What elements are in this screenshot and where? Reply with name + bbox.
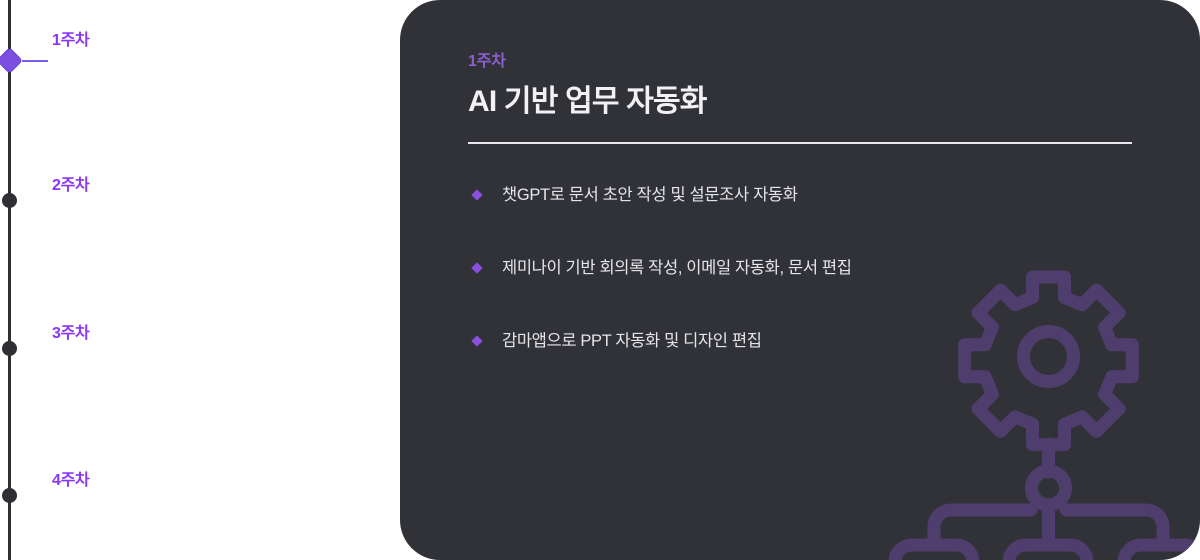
timeline-connector-line: [22, 60, 48, 62]
diamond-marker-icon: [0, 48, 22, 72]
timeline-label-week-2: 2주차: [52, 171, 89, 195]
card-divider: [468, 142, 1132, 144]
card-title: AI 기반 업무 자동화: [468, 83, 1132, 121]
diamond-bullet-icon: [471, 262, 482, 273]
timeline-label-week-1: 1주차: [52, 26, 89, 50]
list-item-text: 감마앱으로 PPT 자동화 및 디자인 편집: [502, 332, 762, 350]
week-detail-card: 1주차 AI 기반 업무 자동화 챗GPT로 문서 초안 작성 및 설문조사 자…: [400, 0, 1200, 560]
list-item: 감마앱으로 PPT 자동화 및 디자인 편집: [468, 330, 1132, 352]
list-item-text: 챗GPT로 문서 초안 작성 및 설문조사 자동화: [502, 186, 798, 204]
screen-root: 1주차 2주차 3주차 4주차: [0, 0, 1200, 560]
card-content: 1주차 AI 기반 업무 자동화 챗GPT로 문서 초안 작성 및 설문조사 자…: [468, 52, 1132, 352]
diamond-bullet-icon: [471, 189, 482, 200]
list-item: 제미나이 기반 회의록 작성, 이메일 자동화, 문서 편집: [468, 257, 1132, 279]
dot-marker-icon: [2, 193, 17, 208]
list-item: 챗GPT로 문서 초안 작성 및 설문조사 자동화: [468, 184, 1132, 206]
timeline-vertical-line: [8, 0, 11, 560]
dot-marker-icon: [2, 488, 17, 503]
diamond-bullet-icon: [471, 336, 482, 347]
card-eyebrow-week: 1주차: [468, 52, 1132, 71]
timeline-label-week-4: 4주차: [52, 466, 89, 490]
list-item-text: 제미나이 기반 회의록 작성, 이메일 자동화, 문서 편집: [502, 259, 852, 277]
topic-list: 챗GPT로 문서 초안 작성 및 설문조사 자동화 제미나이 기반 회의록 작성…: [468, 184, 1132, 353]
timeline-label-week-3: 3주차: [52, 319, 89, 343]
timeline-rail: 1주차 2주차 3주차 4주차: [0, 0, 400, 560]
dot-marker-icon: [2, 341, 17, 356]
